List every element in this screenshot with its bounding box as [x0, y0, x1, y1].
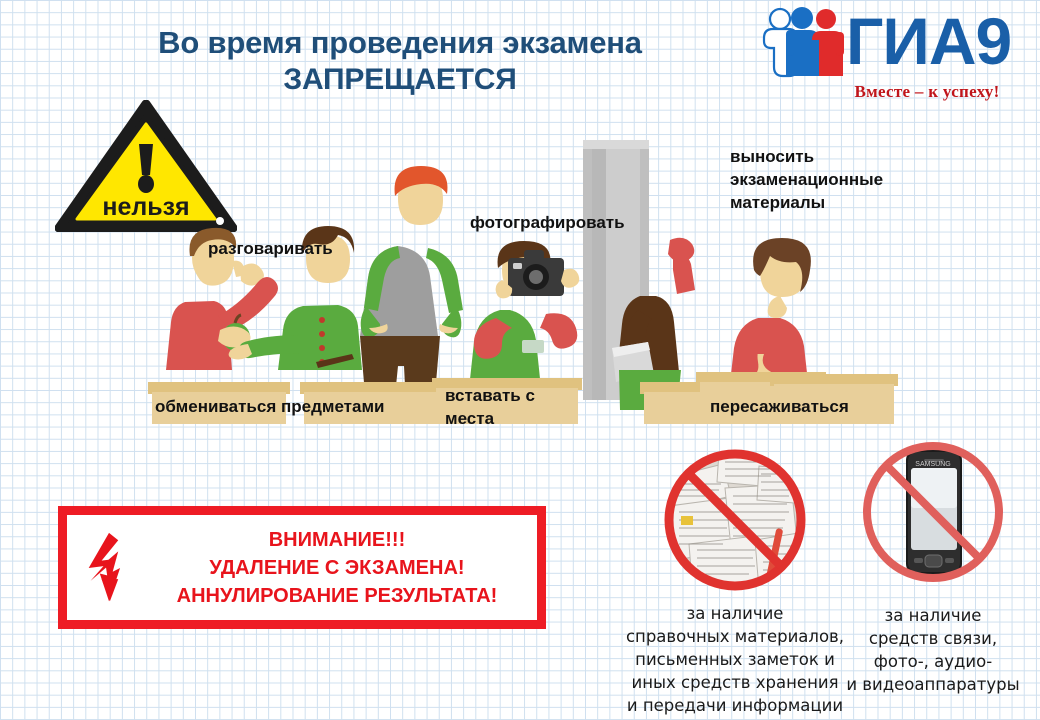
svg-text:SAMSUNG: SAMSUNG	[915, 461, 950, 468]
alert-text: ВНИМАНИЕ!!! УДАЛЕНИЕ С ЭКЗАМЕНА! АННУЛИР…	[151, 526, 537, 610]
gia9-logo: ГИА9 Вместе – к успеху!	[760, 4, 1032, 109]
alert-line-2: УДАЛЕНИЕ С ЭКЗАМЕНА!	[151, 554, 523, 582]
caption-line: и передачи информации	[620, 694, 850, 717]
title-line-2: ЗАПРЕЩАЕТСЯ	[60, 61, 740, 98]
scene-label-move: пересаживаться	[710, 396, 849, 417]
no-reference-materials-icon	[659, 444, 811, 596]
caption-line: за наличие	[620, 602, 850, 625]
scene-label-carry: выносить экзаменационные материалы	[730, 145, 910, 214]
prohibition-card-phone: SAMSUNG за наличие средств связи, фото-,…	[818, 440, 1040, 696]
prohibition-caption-papers: за наличие справочных материалов, письме…	[620, 602, 850, 717]
prohibition-card-papers: за наличие справочных материалов, письме…	[620, 444, 850, 717]
prohibition-caption-phone: за наличие средств связи, фото-, аудио- …	[818, 604, 1040, 696]
alert-line-1: ВНИМАНИЕ!!!	[151, 526, 523, 554]
logo-figures-icon	[760, 6, 852, 78]
logo-wordmark: ГИА9	[846, 4, 1036, 80]
scene-label-stand: вставать с места	[445, 384, 555, 430]
scene-label-photo: фотографировать	[470, 212, 625, 233]
caption-line: письменных заметок и	[620, 648, 850, 671]
caption-line: справочных материалов,	[620, 625, 850, 648]
caption-line: фото-, аудио-	[818, 650, 1040, 673]
title-line-1: Во время проведения экзамена	[60, 24, 740, 61]
logo-tagline: Вместе – к успеху!	[822, 82, 1032, 102]
scene-label-talk: разговаривать	[208, 238, 333, 259]
alert-line-3: АННУЛИРОВАНИЕ РЕЗУЛЬТАТА!	[151, 582, 523, 610]
caption-line: за наличие	[818, 604, 1040, 627]
scene-label-exchange: обмениваться предметами	[155, 396, 384, 417]
classroom-illustration: разговаривать фотографировать выносить э…	[140, 130, 900, 425]
alert-banner: ВНИМАНИЕ!!! УДАЛЕНИЕ С ЭКЗАМЕНА! АННУЛИР…	[58, 506, 546, 629]
lightning-bolt-icon	[67, 531, 151, 605]
poster-canvas: Во время проведения экзамена ЗАПРЕЩАЕТСЯ…	[0, 0, 1040, 720]
caption-line: иных средств хранения	[620, 671, 850, 694]
caption-line: средств связи,	[818, 627, 1040, 650]
page-title: Во время проведения экзамена ЗАПРЕЩАЕТСЯ	[60, 24, 740, 98]
no-mobile-phone-icon: SAMSUNG	[854, 440, 1012, 598]
caption-line: и видеоаппаратуры	[818, 673, 1040, 696]
logo-wordmark-text: ГИА9	[846, 4, 1011, 78]
